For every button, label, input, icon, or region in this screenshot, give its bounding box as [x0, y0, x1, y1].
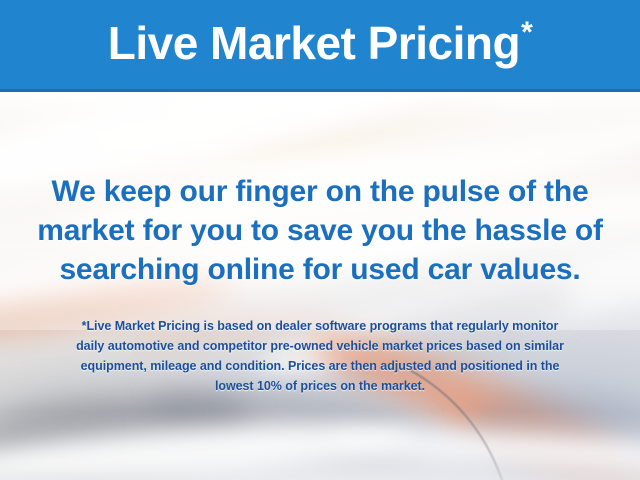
page-title-text: Live Market Pricing [108, 17, 520, 69]
background-chrome-streak-7 [330, 425, 640, 477]
background-warm-highlight-top [236, 84, 497, 155]
background-fade-top [0, 92, 640, 144]
headline-line-2: market for you to save you the hassle of [18, 211, 622, 250]
background-shadow-1 [0, 386, 253, 480]
live-market-pricing-banner: Live Market Pricing* We keep our finger … [0, 0, 640, 480]
headline-text: We keep our finger on the pulse of the m… [0, 172, 640, 289]
disclaimer-line-2: daily automotive and competitor pre-owne… [26, 336, 614, 356]
page-title: Live Market Pricing* [108, 20, 533, 70]
disclaimer-line-1: *Live Market Pricing is based on dealer … [26, 316, 614, 336]
headline-line-3: searching online for used car values. [18, 250, 622, 289]
disclaimer-line-4: lowest 10% of prices on the market. [26, 376, 614, 396]
headline-line-1: We keep our finger on the pulse of the [18, 172, 622, 211]
page-title-asterisk: * [521, 16, 532, 49]
disclaimer-line-3: equipment, mileage and condition. Prices… [26, 356, 614, 376]
header-bar: Live Market Pricing* [0, 0, 640, 92]
disclaimer-text: *Live Market Pricing is based on dealer … [0, 316, 640, 396]
background-fade-bottom [0, 410, 640, 480]
background-chrome-streak-6 [0, 414, 421, 480]
